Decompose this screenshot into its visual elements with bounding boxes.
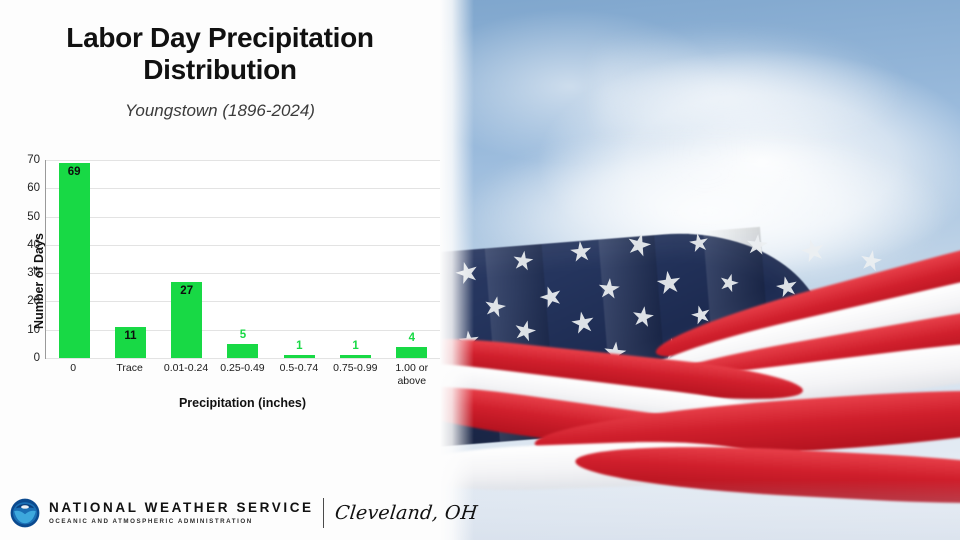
title-block: Labor Day Precipitation Distribution You…	[0, 22, 440, 121]
x-axis-tick-label: 0.5-0.74	[271, 362, 327, 388]
bar-slot: 4	[384, 160, 440, 358]
bar[interactable]: 11	[115, 327, 146, 358]
agency-name-block: NATIONAL WEATHER SERVICE OCEANIC AND ATM…	[49, 501, 314, 525]
bar-slot: 11	[102, 160, 158, 358]
bar[interactable]: 69	[59, 163, 90, 358]
x-axis-tick-label: 0.25-0.49	[214, 362, 270, 388]
bar-value-label: 5	[227, 329, 258, 341]
cloud-shape	[596, 27, 908, 135]
bar-slot: 27	[159, 160, 215, 358]
bar[interactable]: 4	[396, 347, 427, 358]
x-axis-tick-label: Trace	[101, 362, 157, 388]
bar-slot: 5	[215, 160, 271, 358]
page-subtitle: Youngstown (1896-2024)	[0, 101, 440, 121]
gridline: 0	[46, 358, 440, 359]
bar-series: 69 11 27 5	[46, 160, 440, 358]
bar-value-label: 1	[284, 340, 315, 352]
y-axis-tick-label: 0	[34, 352, 40, 364]
page-title: Labor Day Precipitation Distribution	[0, 22, 440, 87]
y-axis-tick-label: 60	[27, 182, 40, 194]
x-axis-tick-label: 0	[45, 362, 101, 388]
bar-chart: Number of Days 70 60 50 40 30 20 10	[6, 148, 440, 413]
agency-secondary-name: OCEANIC AND ATMOSPHERIC ADMINISTRATION	[49, 518, 314, 525]
bar[interactable]: 5	[227, 344, 258, 358]
noaa-logo	[10, 498, 40, 528]
footer-branding: NATIONAL WEATHER SERVICE OCEANIC AND ATM…	[10, 496, 477, 530]
plot-area: 70 60 50 40 30 20 10 0	[45, 160, 440, 359]
bar-slot: 1	[327, 160, 383, 358]
bar-slot: 69	[46, 160, 102, 358]
x-axis-tick-label: 0.01-0.24	[158, 362, 214, 388]
y-axis-tick-label: 70	[27, 154, 40, 166]
agency-primary-name: NATIONAL WEATHER SERVICE	[49, 501, 314, 516]
bar-value-label: 11	[115, 330, 146, 342]
bar-slot: 1	[271, 160, 327, 358]
office-name: Cleveland, OH	[334, 502, 479, 524]
bar[interactable]: 27	[171, 282, 202, 358]
american-flag-photo	[440, 0, 960, 540]
bar-value-label: 1	[340, 340, 371, 352]
y-axis-tick-label: 40	[27, 239, 40, 251]
y-axis-tick-label: 30	[27, 267, 40, 279]
x-axis-tick-label: 0.75-0.99	[327, 362, 383, 388]
photo-left-fade	[440, 0, 474, 540]
photo-bottom-fade	[440, 480, 960, 540]
infographic-canvas: Labor Day Precipitation Distribution You…	[0, 0, 960, 540]
bar-value-label: 69	[59, 166, 90, 178]
y-axis-tick-label: 20	[27, 295, 40, 307]
x-axis-title: Precipitation (inches)	[45, 396, 440, 410]
bar-value-label: 4	[396, 332, 427, 344]
y-axis-tick-label: 10	[27, 324, 40, 336]
bar[interactable]: 1	[284, 355, 315, 358]
y-axis-tick-label: 50	[27, 211, 40, 223]
x-axis-tick-label: 1.00 or above	[384, 362, 440, 388]
bar[interactable]: 1	[340, 355, 371, 358]
x-axis-tick-labels: 0 Trace 0.01-0.24 0.25-0.49 0.5-0.74 0.7…	[45, 362, 440, 388]
footer-divider	[323, 498, 324, 528]
bar-value-label: 27	[171, 285, 202, 297]
